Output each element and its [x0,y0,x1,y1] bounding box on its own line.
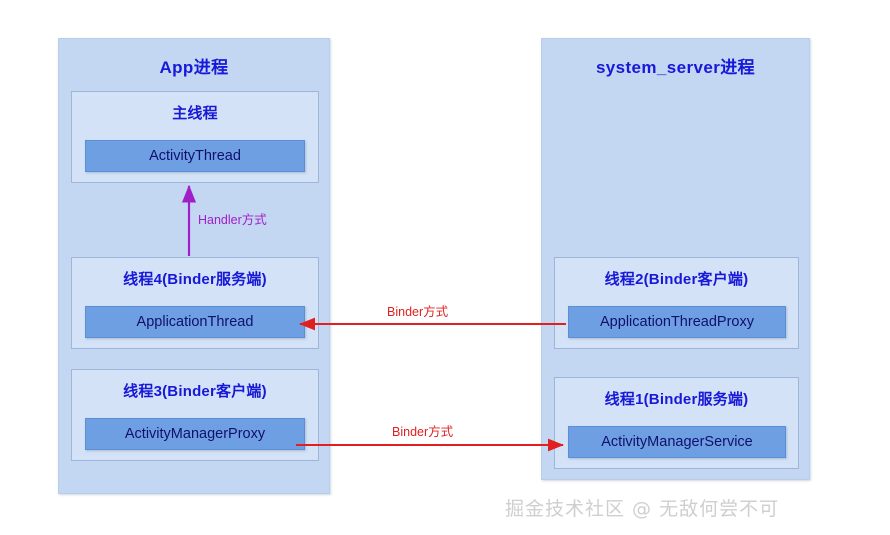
arrow-label-binder-bottom: Binder方式 [392,421,453,440]
process-title-system-server: system_server进程 [542,53,809,78]
diagram-canvas: App进程 主线程 ActivityThread 线程4(Binder服务端) … [0,0,890,535]
thread-group-title-thread4: 线程4(Binder服务端) [72,268,318,289]
watermark: 掘金技术社区 @ 无敌何尝不可 [505,494,779,521]
arrow-label-handler: Handler方式 [198,209,267,228]
class-box-activitymanagerservice[interactable]: ActivityManagerService [568,426,786,458]
class-box-applicationthread[interactable]: ApplicationThread [85,306,305,338]
thread-group-title-thread1: 线程1(Binder服务端) [555,388,798,409]
thread-group-title-main: 主线程 [72,102,318,123]
process-panel-system-server: system_server进程 线程2(Binder客户端) Applicati… [541,38,810,480]
class-box-activitymanagerproxy[interactable]: ActivityManagerProxy [85,418,305,450]
thread-group-title-thread3: 线程3(Binder客户端) [72,380,318,401]
class-box-applicationthreadproxy[interactable]: ApplicationThreadProxy [568,306,786,338]
arrow-label-binder-top: Binder方式 [387,301,448,320]
process-panel-app: App进程 主线程 ActivityThread 线程4(Binder服务端) … [58,38,330,494]
thread-group-title-thread2: 线程2(Binder客户端) [555,268,798,289]
class-box-activitythread[interactable]: ActivityThread [85,140,305,172]
process-title-app: App进程 [59,53,329,78]
